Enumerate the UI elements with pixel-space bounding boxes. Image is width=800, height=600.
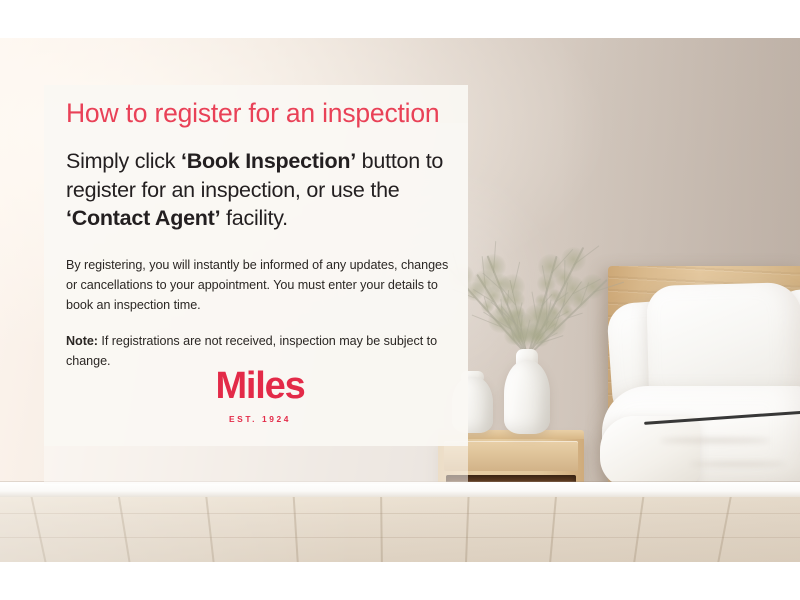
floor-plank-seam	[715, 497, 734, 562]
floor-plank-seam	[548, 497, 558, 562]
note-text: If registrations are not received, inspe…	[66, 334, 437, 368]
floor-plank-seam	[116, 497, 132, 562]
duvet-crease	[660, 438, 770, 443]
floor-plank-seam	[204, 497, 216, 562]
letterbox-bottom	[0, 562, 800, 600]
info-panel: How to register for an inspection Simply…	[44, 85, 468, 446]
floor-plank-row	[0, 513, 800, 514]
branch-leaf-spray	[500, 274, 525, 299]
contact-agent-emphasis: ‘Contact Agent’	[66, 206, 220, 230]
vase-large	[504, 360, 550, 434]
screenshot-canvas: How to register for an inspection Simply…	[0, 0, 800, 600]
letterbox-top	[0, 0, 800, 38]
skirting-board	[0, 482, 800, 498]
branch-leaf-spray	[481, 254, 506, 279]
branch-leaf-spray	[561, 247, 586, 272]
lede-line1-post: button	[356, 149, 420, 173]
wood-floor	[0, 497, 800, 562]
registration-info-paragraph: By registering, you will instantly be in…	[66, 233, 454, 316]
lede-line3-post: facility.	[220, 206, 288, 230]
logo-wordmark: Miles	[66, 367, 454, 405]
logo-established: EST. 1924	[66, 414, 454, 424]
floor-plank-seam	[28, 497, 49, 562]
lede-line1-pre: Simply click	[66, 149, 181, 173]
floor-plank-seam	[632, 497, 646, 562]
floor-plank-seam	[380, 497, 383, 562]
brand-logo: Miles EST. 1924	[66, 367, 454, 424]
lede-paragraph: Simply click ‘Book Inspection’ button to…	[66, 130, 454, 233]
floor-plank-seam	[465, 497, 470, 562]
note-label: Note:	[66, 334, 98, 348]
page-title: How to register for an inspection	[66, 85, 454, 130]
duvet-fold	[600, 416, 700, 488]
note-paragraph: Note: If registrations are not received,…	[66, 316, 454, 372]
floor-plank-seam	[292, 497, 300, 562]
book-inspection-emphasis: ‘Book Inspection’	[181, 149, 356, 173]
duvet-crease	[690, 462, 786, 466]
floor-plank-row	[0, 537, 800, 538]
